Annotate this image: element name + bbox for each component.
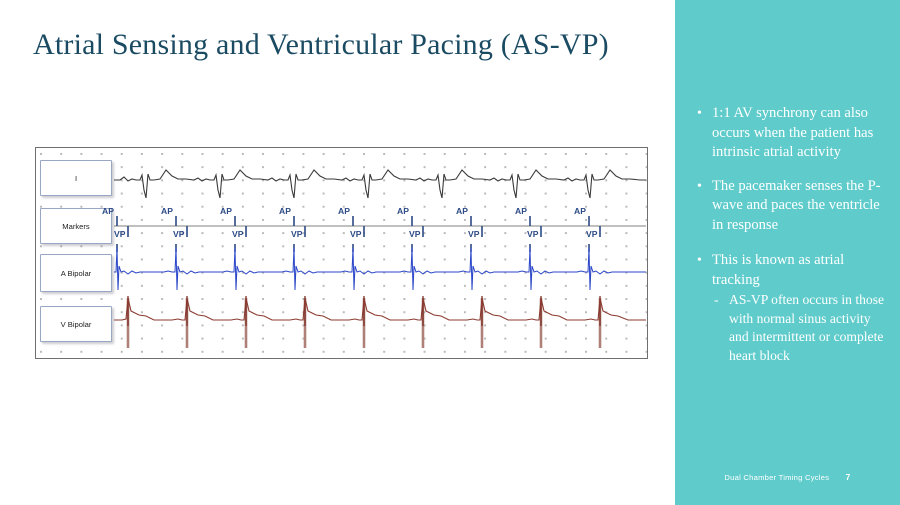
- lead-i-waveform: [114, 170, 646, 198]
- marker-label-vp: VP: [350, 229, 361, 239]
- marker-label-ap: AP: [102, 206, 114, 216]
- bullet-list: • 1:1 AV synchrony can also occurs when …: [693, 104, 889, 365]
- marker-label-ap: AP: [161, 206, 173, 216]
- marker-label-ap: AP: [338, 206, 350, 216]
- bullet-item: • The pacemaker senses the P-wave and pa…: [693, 177, 889, 236]
- channel-label-lead-i[interactable]: I: [40, 160, 112, 196]
- bullet-text: The pacemaker senses the P-wave and pace…: [712, 178, 881, 233]
- marker-label-vp: VP: [527, 229, 538, 239]
- page-title: Atrial Sensing and Ventricular Pacing (A…: [33, 28, 609, 62]
- bullet-item: • This is known as atrial tracking - AS-…: [693, 251, 889, 365]
- page-number: 7: [846, 472, 851, 482]
- sub-bullet-dash-icon: -: [714, 291, 719, 310]
- bullet-text: This is known as atrial tracking: [712, 252, 844, 288]
- marker-label-ap: AP: [515, 206, 527, 216]
- ecg-strip-panel: I Markers A Bipolar V Bipolar AP AP AP A…: [35, 147, 648, 359]
- a-bipolar-waveform: [114, 248, 646, 290]
- trace-lead-i: [114, 170, 646, 198]
- bullet-dot-icon: •: [697, 177, 702, 197]
- ecg-traces: [36, 148, 646, 357]
- footer-title: Dual Chamber Timing Cycles: [724, 473, 829, 482]
- bullet-item: • 1:1 AV synchrony can also occurs when …: [693, 104, 889, 163]
- marker-label-ap: AP: [574, 206, 586, 216]
- bullet-text: 1:1 AV synchrony can also occurs when th…: [712, 105, 873, 160]
- channel-label-a-bipolar[interactable]: A Bipolar: [40, 254, 112, 292]
- marker-label-vp: VP: [232, 229, 243, 239]
- marker-label-vp: VP: [291, 229, 302, 239]
- marker-label-ap: AP: [279, 206, 291, 216]
- marker-label-ap: AP: [220, 206, 232, 216]
- trace-a-bipolar: [114, 248, 646, 290]
- marker-label-vp: VP: [173, 229, 184, 239]
- sub-bullet-text: AS-VP often occurs in those with normal …: [729, 292, 884, 363]
- trace-markers: [114, 216, 646, 252]
- marker-label-vp: VP: [409, 229, 420, 239]
- marker-label-vp: VP: [468, 229, 479, 239]
- side-panel: • 1:1 AV synchrony can also occurs when …: [675, 0, 900, 505]
- marker-label-ap: AP: [456, 206, 468, 216]
- slide-footer: Dual Chamber Timing Cycles 7: [675, 472, 900, 482]
- marker-label-ap: AP: [397, 206, 409, 216]
- channel-label-v-bipolar[interactable]: V Bipolar: [40, 306, 112, 342]
- sub-bullet-item: - AS-VP often occurs in those with norma…: [712, 291, 889, 365]
- trace-v-bipolar: [114, 296, 646, 348]
- bullet-dot-icon: •: [697, 104, 702, 124]
- v-bipolar-waveform: [114, 298, 646, 320]
- bullet-dot-icon: •: [697, 251, 702, 271]
- marker-label-vp: VP: [114, 229, 125, 239]
- marker-label-vp: VP: [586, 229, 597, 239]
